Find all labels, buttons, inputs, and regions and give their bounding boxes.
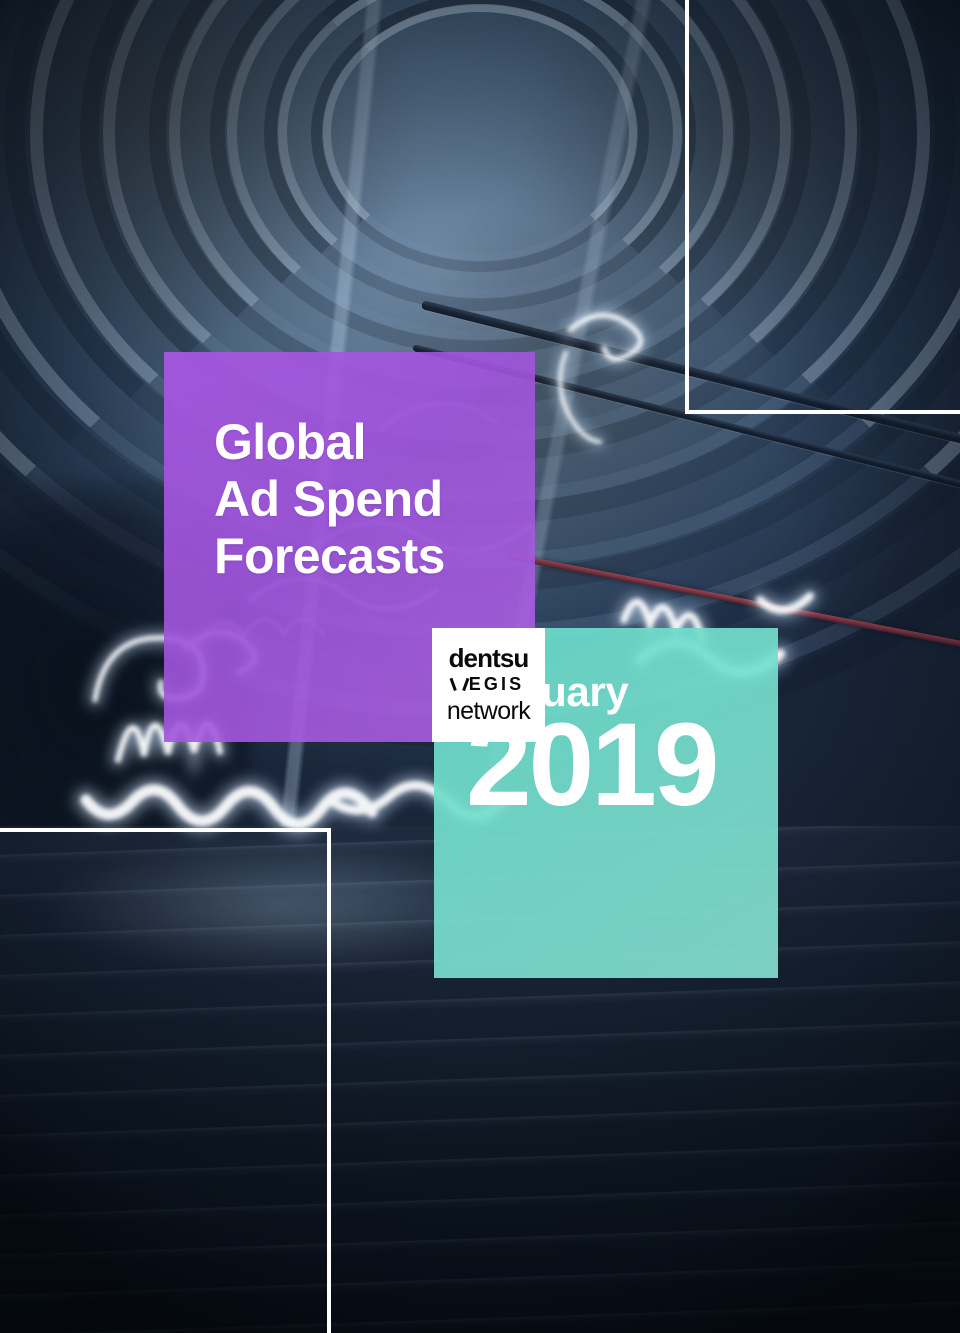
- top-right-frame-vertical: [685, 0, 689, 412]
- page-title: Global Ad Spend Forecasts: [214, 414, 445, 585]
- logo-wordmark-aegis: EGIS: [453, 672, 524, 696]
- report-cover-page: Global Ad Spend Forecasts January 2019 d…: [0, 0, 960, 1333]
- logo-wordmark-network: network: [447, 698, 530, 726]
- logo-wordmark-dentsu: dentsu: [449, 645, 529, 672]
- logo-aegis-text: EGIS: [469, 672, 524, 696]
- bottom-left-frame-horizontal: [0, 828, 331, 832]
- lambda-a-icon: [453, 678, 466, 691]
- brand-logo-dentsu-aegis-network: dentsu EGIS network: [432, 628, 545, 742]
- top-right-frame-horizontal: [685, 410, 960, 414]
- bottom-left-frame-vertical: [327, 828, 331, 1333]
